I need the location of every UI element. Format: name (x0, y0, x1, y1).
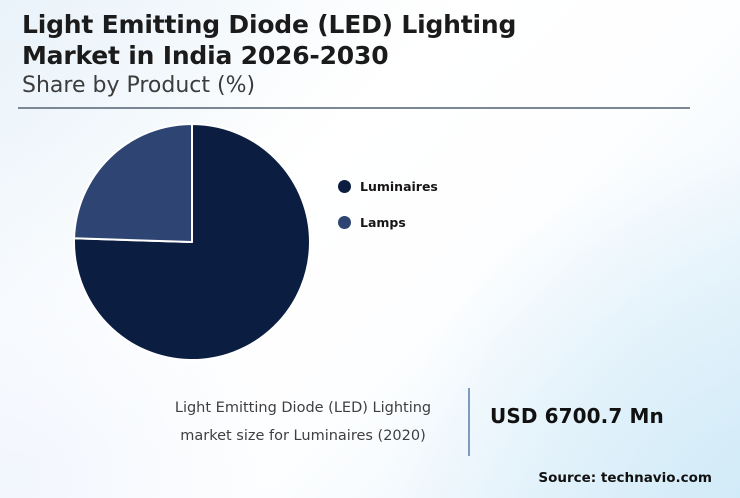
legend-item-luminaires[interactable]: Luminaires (338, 168, 528, 204)
infographic-canvas: Light Emitting Diode (LED) Lighting Mark… (0, 0, 740, 498)
legend-color-dot-icon (338, 216, 351, 229)
legend-color-dot-icon (338, 180, 351, 193)
pie-slices (74, 124, 310, 360)
page-subtitle: Share by Product (%) (22, 73, 702, 99)
chart-legend: Luminaires Lamps (338, 168, 528, 240)
market-size-caption-line-1: Light Emitting Diode (LED) Lighting (150, 394, 456, 422)
market-size-caption: Light Emitting Diode (LED) Lighting mark… (150, 394, 456, 451)
market-size-value: USD 6700.7 Mn (490, 404, 664, 428)
callout-divider (468, 388, 470, 456)
page-title-line-2: Market in India 2026-2030 (22, 41, 702, 72)
legend-label-luminaires: Luminaires (360, 179, 438, 194)
header: Light Emitting Diode (LED) Lighting Mark… (22, 10, 702, 99)
page-title: Light Emitting Diode (LED) Lighting Mark… (22, 10, 702, 71)
page-title-line-1: Light Emitting Diode (LED) Lighting (22, 10, 702, 41)
pie-chart-svg (60, 110, 320, 370)
legend-item-lamps[interactable]: Lamps (338, 204, 528, 240)
pie-chart (0, 118, 420, 378)
market-size-callout: Light Emitting Diode (LED) Lighting mark… (0, 386, 740, 461)
header-divider (18, 107, 690, 109)
legend-label-lamps: Lamps (360, 215, 406, 230)
market-size-caption-line-2: market size for Luminaires (2020) (150, 422, 456, 450)
source-attribution: Source: technavio.com (538, 470, 712, 486)
pie-slice-lamps[interactable] (74, 124, 192, 242)
